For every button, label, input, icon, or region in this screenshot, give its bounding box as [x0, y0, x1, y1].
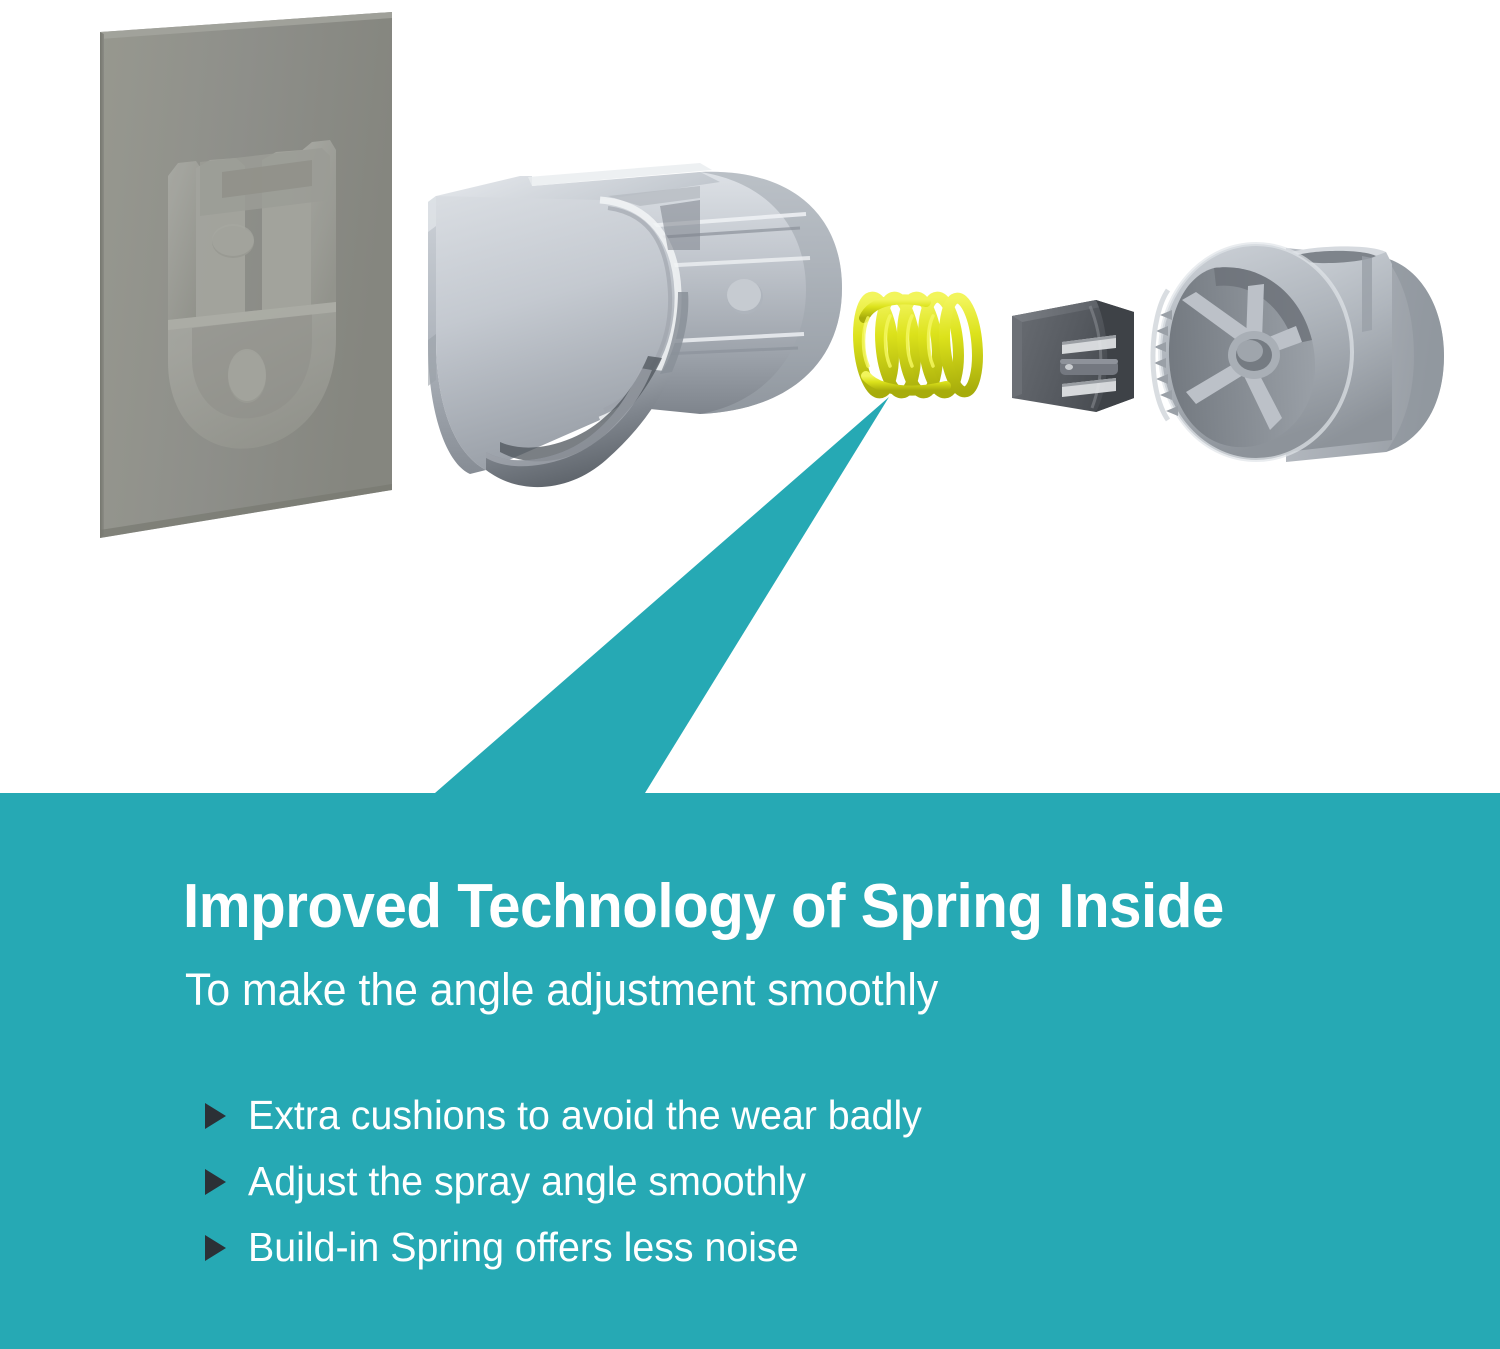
feature-text: Build-in Spring offers less noise	[248, 1224, 799, 1271]
feature-text: Adjust the spray angle smoothly	[248, 1158, 806, 1205]
coil-spring	[855, 296, 981, 395]
list-item: Extra cushions to avoid the wear badly	[205, 1082, 950, 1148]
adhesive-wall-plate	[100, 12, 392, 538]
triangle-bullet-icon	[205, 1103, 226, 1129]
product-exploded-view	[0, 0, 1500, 800]
feature-banner: Improved Technology of Spring Inside To …	[0, 793, 1500, 1349]
list-item: Build-in Spring offers less noise	[205, 1214, 950, 1280]
rubber-pad	[1012, 300, 1134, 412]
pad-slots	[1060, 335, 1118, 397]
page-title: Improved Technology of Spring Inside	[183, 876, 1224, 938]
product-illustration	[0, 0, 1500, 800]
list-item: Adjust the spray angle smoothly	[205, 1148, 950, 1214]
page-subtitle: To make the angle adjustment smoothly	[185, 967, 938, 1012]
infographic-page: Improved Technology of Spring Inside To …	[0, 0, 1500, 1349]
feature-list: Extra cushions to avoid the wear badly A…	[205, 1082, 950, 1280]
triangle-bullet-icon	[205, 1235, 226, 1261]
swivel-socket	[1153, 244, 1444, 462]
holder-body	[428, 163, 842, 487]
feature-text: Extra cushions to avoid the wear badly	[248, 1092, 922, 1139]
triangle-bullet-icon	[205, 1169, 226, 1195]
